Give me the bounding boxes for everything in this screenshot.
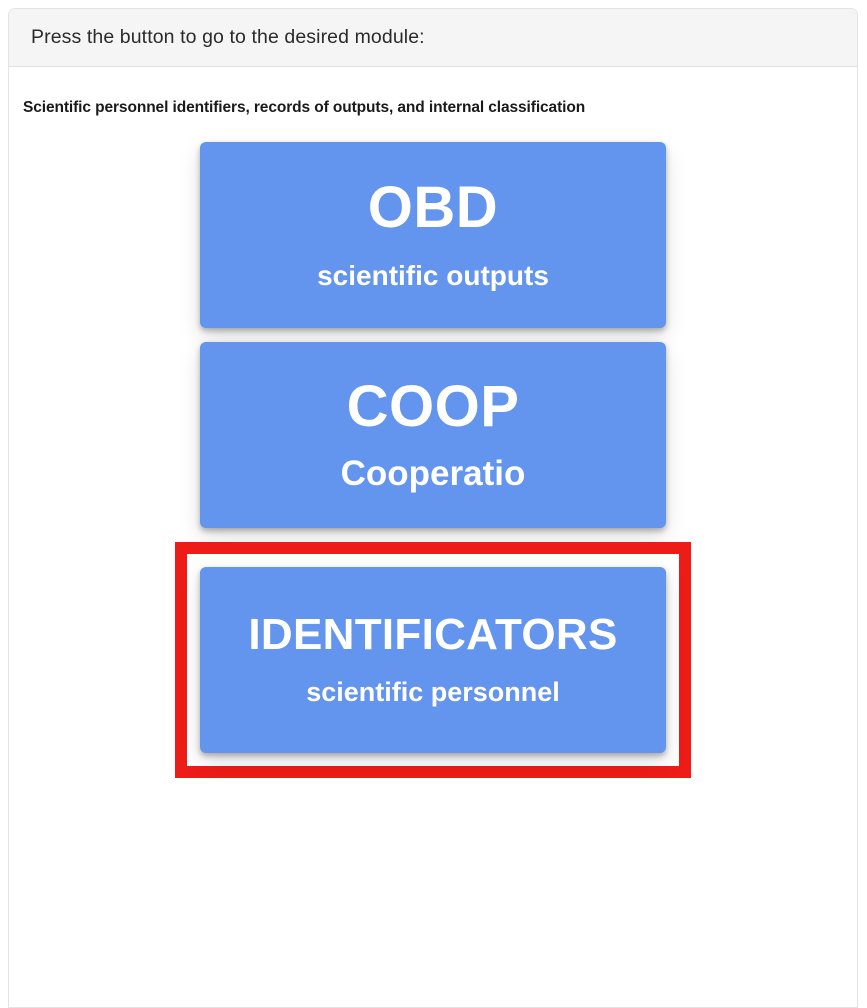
- panel-body: Scientific personnel identifiers, record…: [9, 68, 857, 778]
- module-row: OBD scientific outputs: [9, 142, 857, 328]
- module-subtitle: scientific personnel: [306, 678, 560, 708]
- module-panel: Press the button to go to the desired mo…: [8, 8, 858, 1008]
- highlight-ring-identificators: IDENTIFICATORS scientific personnel: [175, 542, 691, 778]
- module-button-obd[interactable]: OBD scientific outputs: [200, 142, 666, 328]
- module-subtitle: scientific outputs: [317, 261, 549, 292]
- panel-header: Press the button to go to the desired mo…: [9, 9, 857, 67]
- module-launcher-screen: Press the button to go to the desired mo…: [0, 0, 867, 798]
- module-button-coop[interactable]: COOP Cooperatio: [200, 342, 666, 528]
- module-title: OBD: [368, 178, 498, 239]
- module-row: IDENTIFICATORS scientific personnel: [9, 542, 857, 778]
- module-row: COOP Cooperatio: [9, 342, 857, 528]
- module-title: COOP: [347, 377, 520, 438]
- section-title: Scientific personnel identifiers, record…: [9, 68, 857, 117]
- module-title: IDENTIFICATORS: [248, 612, 617, 658]
- module-subtitle: Cooperatio: [341, 455, 526, 494]
- module-button-identificators[interactable]: IDENTIFICATORS scientific personnel: [200, 567, 666, 753]
- module-button-stack: OBD scientific outputs COOP Cooperatio: [9, 142, 857, 778]
- instruction-text: Press the button to go to the desired mo…: [31, 26, 425, 49]
